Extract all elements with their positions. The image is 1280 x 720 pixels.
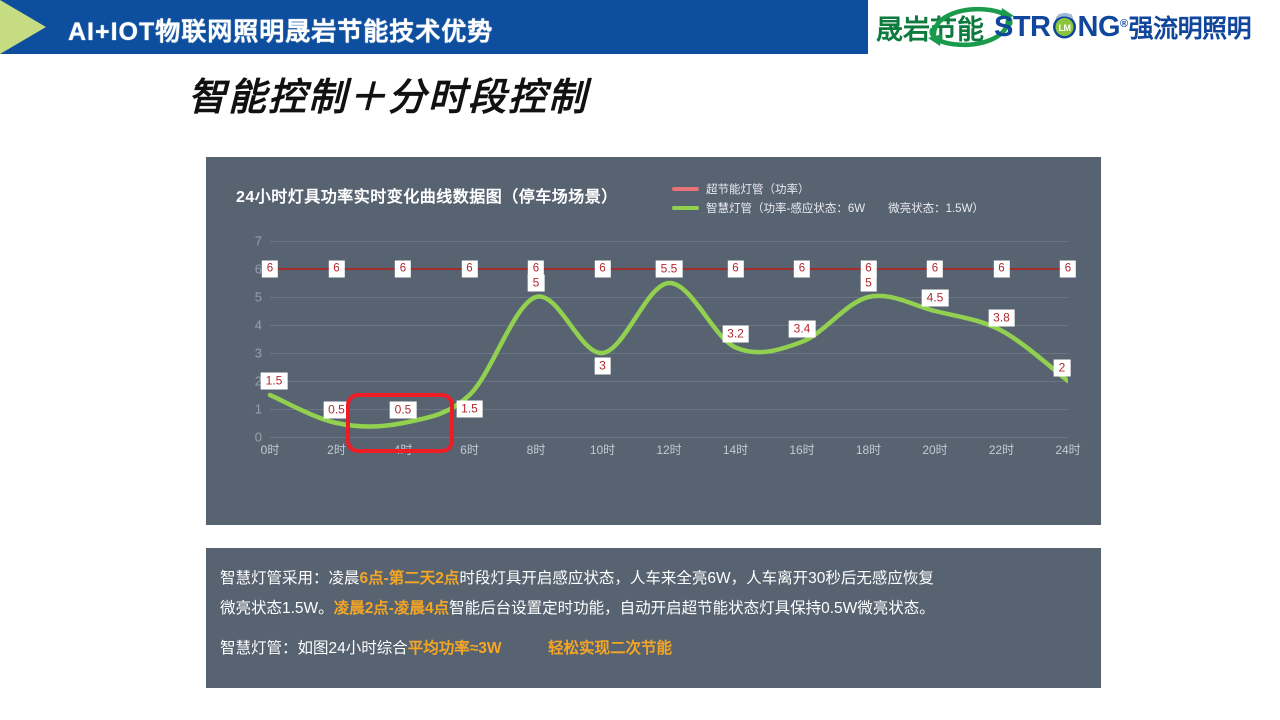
note-panel: 智慧灯管采用：凌晨6点-第二天2点时段灯具开启感应状态，人车来全亮6W，人车离开… [206, 548, 1101, 688]
data-point-label: 2 [1054, 360, 1071, 377]
data-point-label: 3.4 [789, 320, 816, 337]
data-point-label: 6 [328, 261, 344, 278]
header-bar: AI+IOT物联网照明晟岩节能技术优势 晟岩节能 STRLMNG® 强流明照明 [0, 0, 1280, 54]
x-axis-tick: 16时 [789, 441, 814, 458]
data-point-label: 3 [594, 358, 611, 375]
data-point-label: 4.5 [922, 290, 949, 307]
legend-item: 超节能灯管（功率） [672, 179, 984, 198]
registered-mark: ® [1120, 18, 1128, 30]
x-axis-tick: 20时 [922, 441, 947, 458]
note-text: 微亮状态1.5W。 [220, 600, 334, 617]
x-axis-tick: 14时 [723, 441, 748, 458]
data-point-label: 3.2 [722, 326, 749, 343]
data-point-label: 6 [794, 261, 810, 278]
data-point-label: 6 [927, 261, 943, 278]
logo-brand-cn2: 强流明照明 [1129, 9, 1252, 45]
logo-brand-cn-text: 晟岩节能 [876, 15, 984, 45]
x-axis-tick: 24时 [1055, 441, 1080, 458]
legend-swatch-icon [672, 206, 699, 210]
chevron-right-icon [0, 0, 52, 54]
data-point-label: 6 [727, 261, 743, 278]
x-axis-tick: 2时 [327, 441, 346, 458]
data-point-label: 6 [594, 261, 610, 278]
legend-label: 智慧灯管（功率-感应状态：6W 微亮状态：1.5W） [706, 200, 984, 216]
page-title: AI+IOT物联网照明晟岩节能技术优势 [68, 12, 493, 48]
data-point-label: 1.5 [456, 401, 483, 418]
x-axis-tick: 22时 [989, 441, 1014, 458]
note-text: 智能后台设置定时功能，自动开启超节能状态灯具保持0.5W微亮状态。 [449, 600, 935, 617]
section-subtitle: 智能控制＋分时段控制 [188, 66, 588, 121]
logo-brand-en: STRLMNG® [994, 11, 1128, 44]
data-point-label: 3.8 [988, 309, 1015, 326]
data-point-label: 5.5 [656, 261, 683, 278]
data-point-label: 6 [1060, 261, 1076, 278]
x-axis-tick: 10时 [590, 441, 615, 458]
note-line: 智慧灯管采用：凌晨6点-第二天2点时段灯具开启感应状态，人车来全亮6W，人车离开… [220, 564, 1087, 594]
note-highlight: 轻松实现二次节能 [548, 640, 672, 657]
logo-strong-str: STR [994, 11, 1051, 43]
brand-logo: 晟岩节能 STRLMNG® 强流明照明 [868, 0, 1280, 54]
x-axis-tick: 18时 [856, 441, 881, 458]
note-line: 微亮状态1.5W。凌晨2点-凌晨4点智能后台设置定时功能，自动开启超节能状态灯具… [220, 594, 1087, 624]
logo-globe-icon: LM [1051, 13, 1078, 40]
note-highlight: 平均功率≈3W [408, 640, 502, 657]
legend-swatch-icon [672, 187, 699, 191]
logo-brand-cn: 晟岩节能 [876, 8, 984, 47]
data-point-label: 5 [528, 275, 545, 292]
note-line: 智慧灯管：如图24小时综合平均功率≈3W 轻松实现二次节能 [220, 634, 1087, 664]
highlight-rectangle [346, 393, 454, 453]
x-axis-tick: 12时 [656, 441, 681, 458]
slide-root: AI+IOT物联网照明晟岩节能技术优势 晟岩节能 STRLMNG® 强流明照明 … [0, 0, 1280, 720]
note-text: 智慧灯管采用：凌晨 [220, 570, 360, 587]
data-point-label: 1.5 [261, 373, 288, 390]
x-axis-tick: 0时 [261, 441, 280, 458]
chart-plot-area: 01234567 66666666666661.50.50.51.5535.53… [240, 241, 1068, 471]
note-text: 智慧灯管：如图24小时综合 [220, 640, 408, 657]
chart-title: 24小时灯具功率实时变化曲线数据图（停车场场景） [236, 183, 618, 207]
legend-item: 智慧灯管（功率-感应状态：6W 微亮状态：1.5W） [672, 198, 984, 217]
svg-text:LM: LM [1058, 23, 1070, 33]
note-highlight: 6点-第二天2点 [360, 570, 460, 587]
chart-legend: 超节能灯管（功率）智慧灯管（功率-感应状态：6W 微亮状态：1.5W） [672, 179, 984, 217]
x-axis-tick: 6时 [460, 441, 479, 458]
data-point-label: 6 [461, 261, 477, 278]
legend-label: 超节能灯管（功率） [706, 181, 810, 197]
data-point-label: 6 [395, 261, 411, 278]
note-highlight: 凌晨2点-凌晨4点 [334, 600, 449, 617]
data-point-label: 6 [262, 261, 278, 278]
chart-panel: 24小时灯具功率实时变化曲线数据图（停车场场景） 超节能灯管（功率）智慧灯管（功… [206, 157, 1101, 525]
data-point-label: 6 [993, 261, 1009, 278]
data-point-label: 5 [860, 275, 877, 292]
logo-strong-ng: NG [1078, 11, 1121, 43]
x-axis-tick: 8时 [527, 441, 546, 458]
note-text [502, 640, 549, 657]
note-text: 时段灯具开启感应状态，人车来全亮6W，人车离开30秒后无感应恢复 [459, 570, 934, 587]
